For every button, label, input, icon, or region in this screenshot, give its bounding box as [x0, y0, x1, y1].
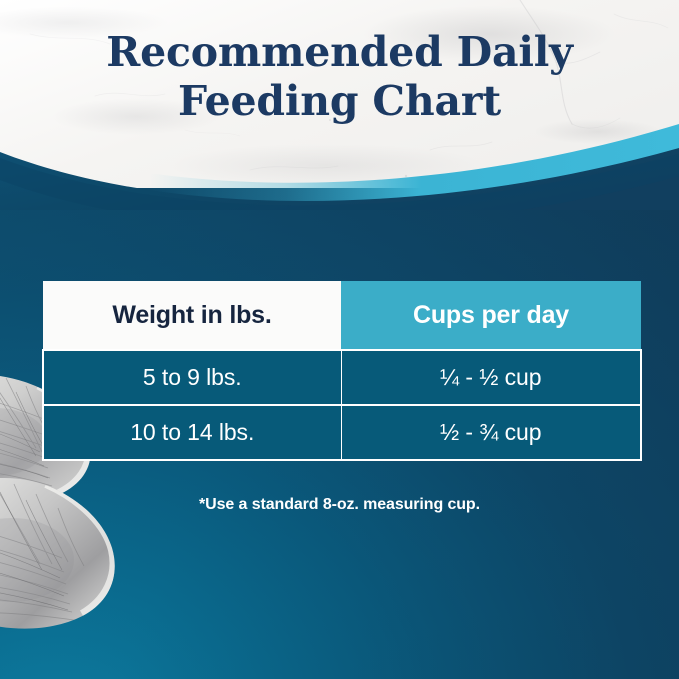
cell-cups-2: ½ - ¾ cup [341, 405, 641, 460]
table-row: 5 to 9 lbs. ¼ - ½ cup [43, 350, 641, 405]
feeding-chart-table: Weight in lbs. Cups per day 5 to 9 lbs. … [42, 281, 642, 461]
table-header-row: Weight in lbs. Cups per day [43, 281, 641, 350]
cell-cups-1: ¼ - ½ cup [341, 350, 641, 405]
title-line-2: Feeding Chart [0, 77, 679, 126]
cell-weight-1: 5 to 9 lbs. [43, 350, 341, 405]
footnote-text: *Use a standard 8-oz. measuring cup. [0, 496, 679, 514]
column-header-cups: Cups per day [341, 281, 641, 350]
title-line-1: Recommended Daily [0, 28, 679, 77]
table-row: 10 to 14 lbs. ½ - ¾ cup [43, 405, 641, 460]
cell-weight-2: 10 to 14 lbs. [43, 405, 341, 460]
column-header-weight: Weight in lbs. [43, 281, 341, 350]
page-title: Recommended Daily Feeding Chart [0, 28, 679, 126]
feeding-chart-infographic: Recommended Daily Feeding Chart [0, 0, 679, 679]
